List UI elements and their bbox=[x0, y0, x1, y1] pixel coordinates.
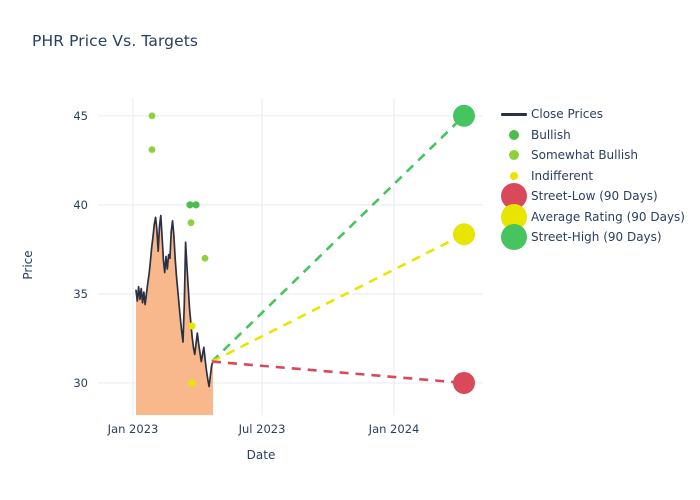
legend-item[interactable]: Street-High (90 Days) bbox=[497, 227, 685, 248]
dot-swatch-icon bbox=[509, 130, 519, 140]
target-trend-line bbox=[212, 116, 464, 362]
dot-swatch-icon bbox=[509, 150, 519, 160]
rating-point-marker[interactable] bbox=[192, 201, 199, 208]
legend-item[interactable]: Somewhat Bullish bbox=[497, 145, 685, 166]
legend-item-label: Close Prices bbox=[531, 108, 603, 120]
legend-item-label: Street-Low (90 Days) bbox=[531, 190, 658, 202]
y-axis-tick-label: 35 bbox=[48, 287, 88, 301]
y-axis-tick-label: 30 bbox=[48, 376, 88, 390]
legend-item-label: Bullish bbox=[531, 129, 571, 141]
chart-container: PHR Price Vs. Targets Date Price 3035404… bbox=[0, 0, 700, 500]
legend-item-label: Average Rating (90 Days) bbox=[531, 211, 685, 223]
y-axis-tick-label: 45 bbox=[48, 109, 88, 123]
line-swatch-icon bbox=[501, 113, 527, 116]
rating-point-marker[interactable] bbox=[149, 112, 156, 119]
target-price-marker[interactable] bbox=[453, 223, 475, 245]
legend-dot-swatch bbox=[497, 150, 531, 160]
x-axis-tick-label: Jan 2024 bbox=[349, 422, 439, 436]
target-price-marker[interactable] bbox=[453, 372, 475, 394]
x-axis-tick-label: Jan 2023 bbox=[88, 422, 178, 436]
legend-dot-swatch bbox=[497, 224, 531, 250]
dot-swatch-icon bbox=[501, 224, 527, 250]
x-axis-title: Date bbox=[0, 448, 522, 462]
rating-point-marker[interactable] bbox=[188, 379, 195, 386]
rating-point-marker[interactable] bbox=[188, 322, 195, 329]
legend-item[interactable]: Bullish bbox=[497, 125, 685, 146]
legend-dot-swatch bbox=[497, 130, 531, 140]
legend-item[interactable]: Close Prices bbox=[497, 104, 685, 125]
rating-point-marker[interactable] bbox=[202, 255, 209, 262]
chart-legend: Close PricesBullishSomewhat BullishIndif… bbox=[497, 104, 685, 248]
y-axis-tick-label: 40 bbox=[48, 198, 88, 212]
legend-item-label: Indifferent bbox=[531, 170, 593, 182]
legend-dot-swatch bbox=[497, 172, 531, 180]
dot-swatch-icon bbox=[510, 172, 518, 180]
x-axis-tick-label: Jul 2023 bbox=[217, 422, 307, 436]
legend-item-label: Somewhat Bullish bbox=[531, 149, 638, 161]
target-price-marker[interactable] bbox=[453, 105, 475, 127]
rating-point-marker[interactable] bbox=[149, 146, 156, 153]
target-trend-line bbox=[212, 362, 464, 383]
legend-line-swatch bbox=[497, 113, 531, 116]
y-axis-title: Price bbox=[21, 225, 35, 305]
rating-point-marker[interactable] bbox=[188, 219, 195, 226]
target-trend-line bbox=[212, 234, 464, 361]
legend-item-label: Street-High (90 Days) bbox=[531, 231, 662, 243]
